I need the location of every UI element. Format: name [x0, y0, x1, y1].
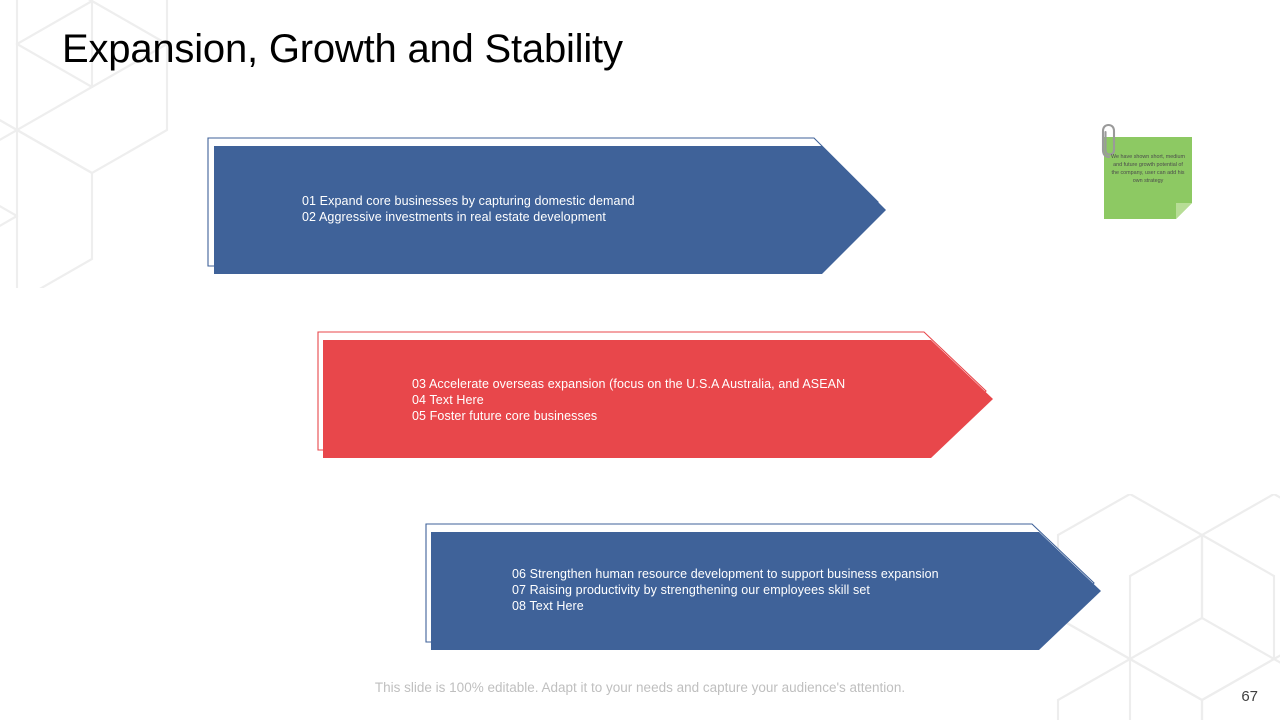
arrow-2-line-2: 04 Text Here — [412, 392, 845, 408]
arrow-1-line-1: 01 Expand core businesses by capturing d… — [302, 193, 635, 209]
arrow-2-line-3: 05 Foster future core businesses — [412, 408, 845, 424]
arrow-1-label: 01 Expand core businesses by capturing d… — [302, 193, 635, 225]
page-title: Expansion, Growth and Stability — [62, 20, 623, 78]
sticky-note[interactable]: We have shown short, medium and future g… — [1104, 137, 1192, 219]
arrow-3-line-1: 06 Strengthen human resource development… — [512, 566, 939, 582]
arrow-3-line-3: 08 Text Here — [512, 598, 939, 614]
sticky-note-text: We have shown short, medium and future g… — [1110, 154, 1186, 186]
arrow-1-line-2: 02 Aggressive investments in real estate… — [302, 209, 635, 225]
arrow-banner-2[interactable]: 03 Accelerate overseas expansion (focus … — [316, 330, 1006, 460]
arrow-3-label: 06 Strengthen human resource development… — [512, 566, 939, 615]
arrow-banner-1[interactable]: 01 Expand core businesses by capturing d… — [206, 136, 896, 276]
arrow-banner-3[interactable]: 06 Strengthen human resource development… — [424, 522, 1114, 652]
slide-canvas: Expansion, Growth and Stability 01 Expan… — [0, 0, 1280, 720]
footer-note: This slide is 100% editable. Adapt it to… — [0, 680, 1280, 695]
arrow-2-label: 03 Accelerate overseas expansion (focus … — [412, 376, 845, 425]
page-number: 67 — [1241, 688, 1258, 705]
arrow-3-line-2: 07 Raising productivity by strengthening… — [512, 582, 939, 598]
arrow-2-line-1: 03 Accelerate overseas expansion (focus … — [412, 376, 845, 392]
